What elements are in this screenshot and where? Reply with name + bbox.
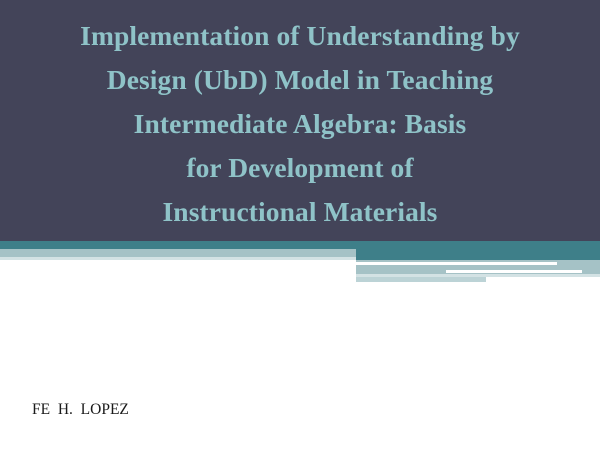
title-line-1: Implementation of Understanding by (0, 14, 600, 58)
title-panel: Implementation of Understanding by Desig… (0, 0, 600, 241)
title-line-2: Design (UbD) Model in Teaching (0, 58, 600, 102)
accent-stripe-right-4 (356, 277, 486, 282)
title-line-4: for Development of (0, 146, 600, 190)
accent-stripe-wash-left (0, 257, 356, 260)
author-block: FE H. LOPEZ MAT-Math (32, 350, 129, 450)
accent-stripe-primary-left (0, 241, 356, 249)
title-line-3: Intermediate Algebra: Basis (0, 102, 600, 146)
title-slide: Implementation of Understanding by Desig… (0, 0, 600, 450)
accent-stripe-primary-right (356, 241, 600, 260)
author-name: FE H. LOPEZ (32, 398, 129, 422)
accent-stripe-pale-left (0, 249, 356, 257)
decorative-accent-band (0, 241, 600, 283)
slide-title: Implementation of Understanding by Desig… (0, 14, 600, 234)
title-line-5: Instructional Materials (0, 190, 600, 234)
accent-stripe-right-2-gap (446, 270, 582, 273)
